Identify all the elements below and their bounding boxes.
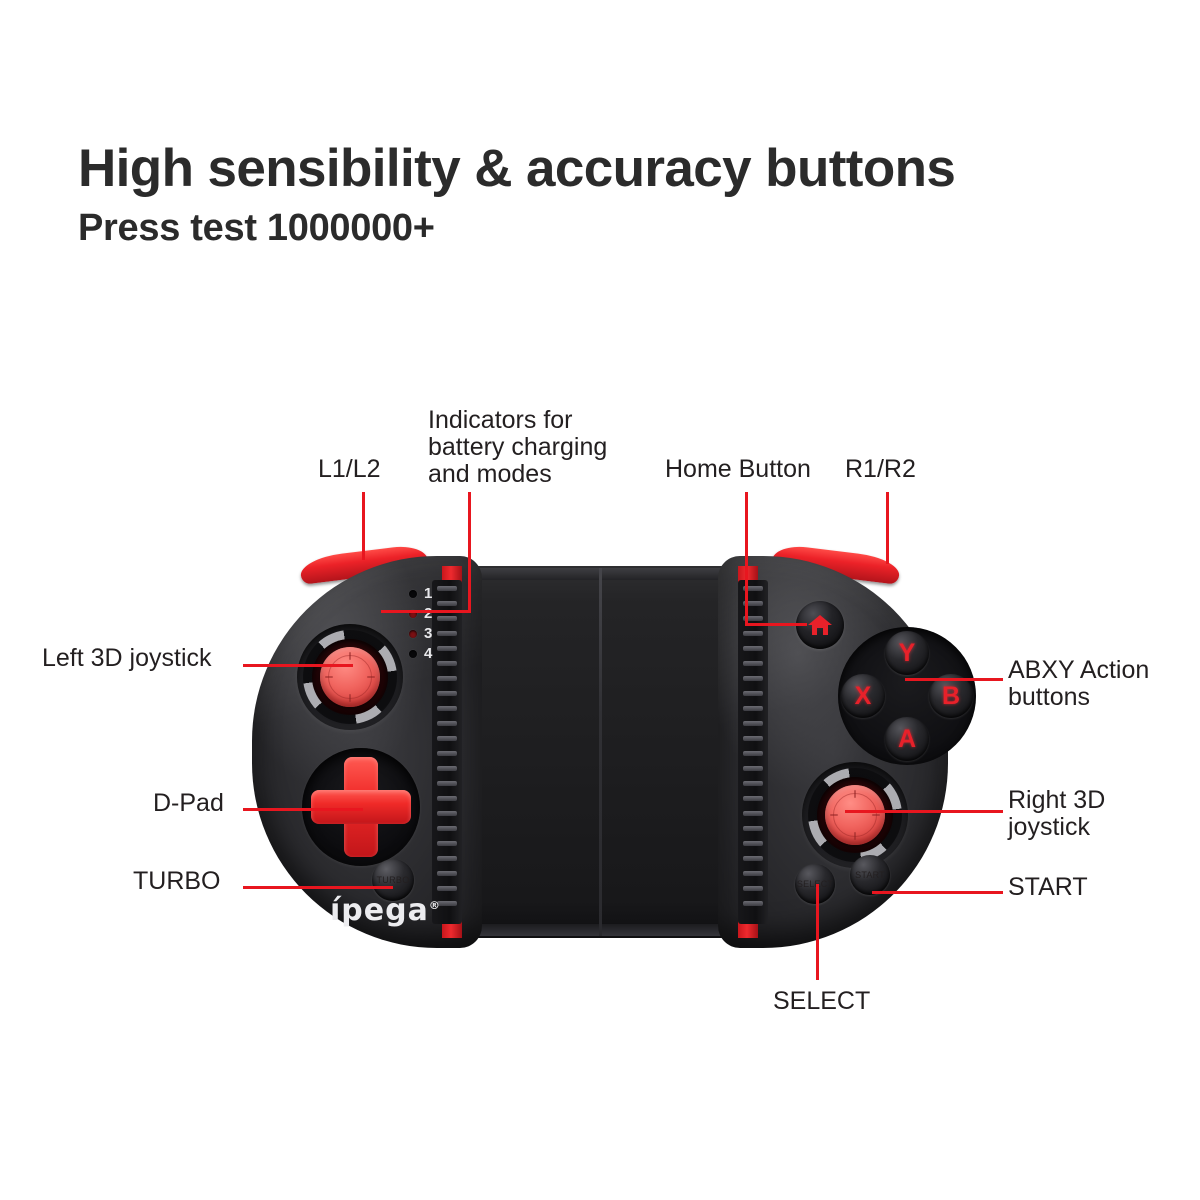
rail-rib xyxy=(437,661,457,666)
led-indicator-2: 2 xyxy=(409,606,432,621)
rail-rib xyxy=(743,811,763,816)
callout-home: Home Button xyxy=(665,456,811,483)
callout-right-stick: Right 3D joystick xyxy=(1008,787,1105,841)
leader-r1r2 xyxy=(886,492,889,564)
select-button-label: SELECT xyxy=(797,879,833,889)
rail-rib xyxy=(437,586,457,591)
leader-dpad xyxy=(243,808,363,811)
rail-rib xyxy=(437,721,457,726)
rail-rib xyxy=(743,796,763,801)
gamepad-illustration: 1 2 3 4 xyxy=(0,0,1200,1200)
callout-indicators: Indicators for battery charging and mode… xyxy=(428,407,607,488)
dpad-cross[interactable] xyxy=(311,757,411,857)
rail-rib xyxy=(437,706,457,711)
rail-rib xyxy=(743,631,763,636)
dpad-horizontal-arm[interactable] xyxy=(311,790,411,824)
rail-rib xyxy=(437,811,457,816)
led-dot xyxy=(409,590,417,598)
callout-abxy: ABXY Action buttons xyxy=(1008,657,1149,711)
led-label: 4 xyxy=(424,646,432,661)
leader-home-horiz xyxy=(745,623,807,626)
rail-rib xyxy=(437,631,457,636)
rail-rib xyxy=(437,796,457,801)
leader-start xyxy=(872,891,1003,894)
button-a[interactable]: A xyxy=(885,717,929,761)
select-button[interactable]: SELECT xyxy=(795,864,835,904)
rail-rib xyxy=(743,886,763,891)
callout-left-stick: Left 3D joystick xyxy=(42,645,212,672)
rail-rib xyxy=(743,766,763,771)
slide-rail-left xyxy=(432,580,462,924)
rail-rib xyxy=(743,856,763,861)
callout-r1r2: R1/R2 xyxy=(845,456,916,483)
rail-rib xyxy=(437,886,457,891)
leader-left-stick xyxy=(243,664,353,667)
rail-rib xyxy=(437,646,457,651)
rail-rib xyxy=(743,781,763,786)
button-x[interactable]: X xyxy=(841,674,885,718)
slide-rail-right xyxy=(738,580,768,924)
rail-rib xyxy=(743,901,763,906)
leader-indicators-horiz xyxy=(381,610,471,613)
home-icon xyxy=(807,613,833,637)
led-dot xyxy=(409,630,417,638)
button-y[interactable]: Y xyxy=(885,631,929,675)
leader-turbo xyxy=(243,886,393,889)
start-button-label: START xyxy=(855,870,885,880)
rail-rib xyxy=(743,826,763,831)
rail-rib xyxy=(437,601,457,606)
led-indicator-4: 4 xyxy=(409,646,432,661)
rail-rib xyxy=(437,766,457,771)
led-indicator-3: 3 xyxy=(409,626,432,641)
start-button[interactable]: START xyxy=(850,855,890,895)
rail-rib xyxy=(437,691,457,696)
led-label: 1 xyxy=(424,586,432,601)
callout-l1l2: L1/L2 xyxy=(318,456,381,483)
rail-rib xyxy=(437,841,457,846)
led-label: 3 xyxy=(424,626,432,641)
dpad[interactable] xyxy=(302,748,420,866)
bridge-seam xyxy=(599,568,602,936)
rail-rib xyxy=(437,871,457,876)
poster-canvas: High sensibility & accuracy buttons Pres… xyxy=(0,0,1200,1200)
rail-rib xyxy=(743,691,763,696)
led-dot xyxy=(409,650,417,658)
rail-rib xyxy=(437,856,457,861)
led-label: 2 xyxy=(424,606,432,621)
rail-rib xyxy=(743,751,763,756)
leader-l1l2 xyxy=(362,492,365,560)
rail-rib xyxy=(743,736,763,741)
turbo-button-label: TURBO xyxy=(377,875,410,885)
led-indicator-1: 1 xyxy=(409,586,432,601)
rail-rib xyxy=(743,676,763,681)
rail-rib xyxy=(743,871,763,876)
rail-rib xyxy=(437,751,457,756)
callout-start: START xyxy=(1008,874,1088,901)
joystick-left[interactable] xyxy=(297,624,403,730)
rail-rib xyxy=(437,781,457,786)
brand-trademark: ® xyxy=(429,899,441,912)
rail-rib xyxy=(743,706,763,711)
leader-select xyxy=(816,884,819,980)
joystick-left-cap[interactable] xyxy=(320,647,380,707)
leader-abxy xyxy=(905,678,1003,681)
rail-rib xyxy=(437,676,457,681)
callout-select: SELECT xyxy=(773,988,870,1015)
callout-dpad: D-Pad xyxy=(153,790,224,817)
leader-indicators-vert xyxy=(468,492,471,610)
brand-logo: ípega® xyxy=(330,893,441,928)
leader-home-vert xyxy=(745,492,748,623)
rail-rib xyxy=(743,646,763,651)
rail-rib xyxy=(743,661,763,666)
rail-rib xyxy=(743,721,763,726)
joystick-right[interactable] xyxy=(802,762,908,868)
rail-rib xyxy=(437,826,457,831)
rail-rib xyxy=(743,841,763,846)
callout-turbo: TURBO xyxy=(133,868,221,895)
rail-rib xyxy=(437,616,457,621)
rail-rib xyxy=(437,736,457,741)
brand-name: ípega xyxy=(330,893,429,928)
leader-right-stick xyxy=(845,810,1003,813)
joystick-right-cap[interactable] xyxy=(825,785,885,845)
